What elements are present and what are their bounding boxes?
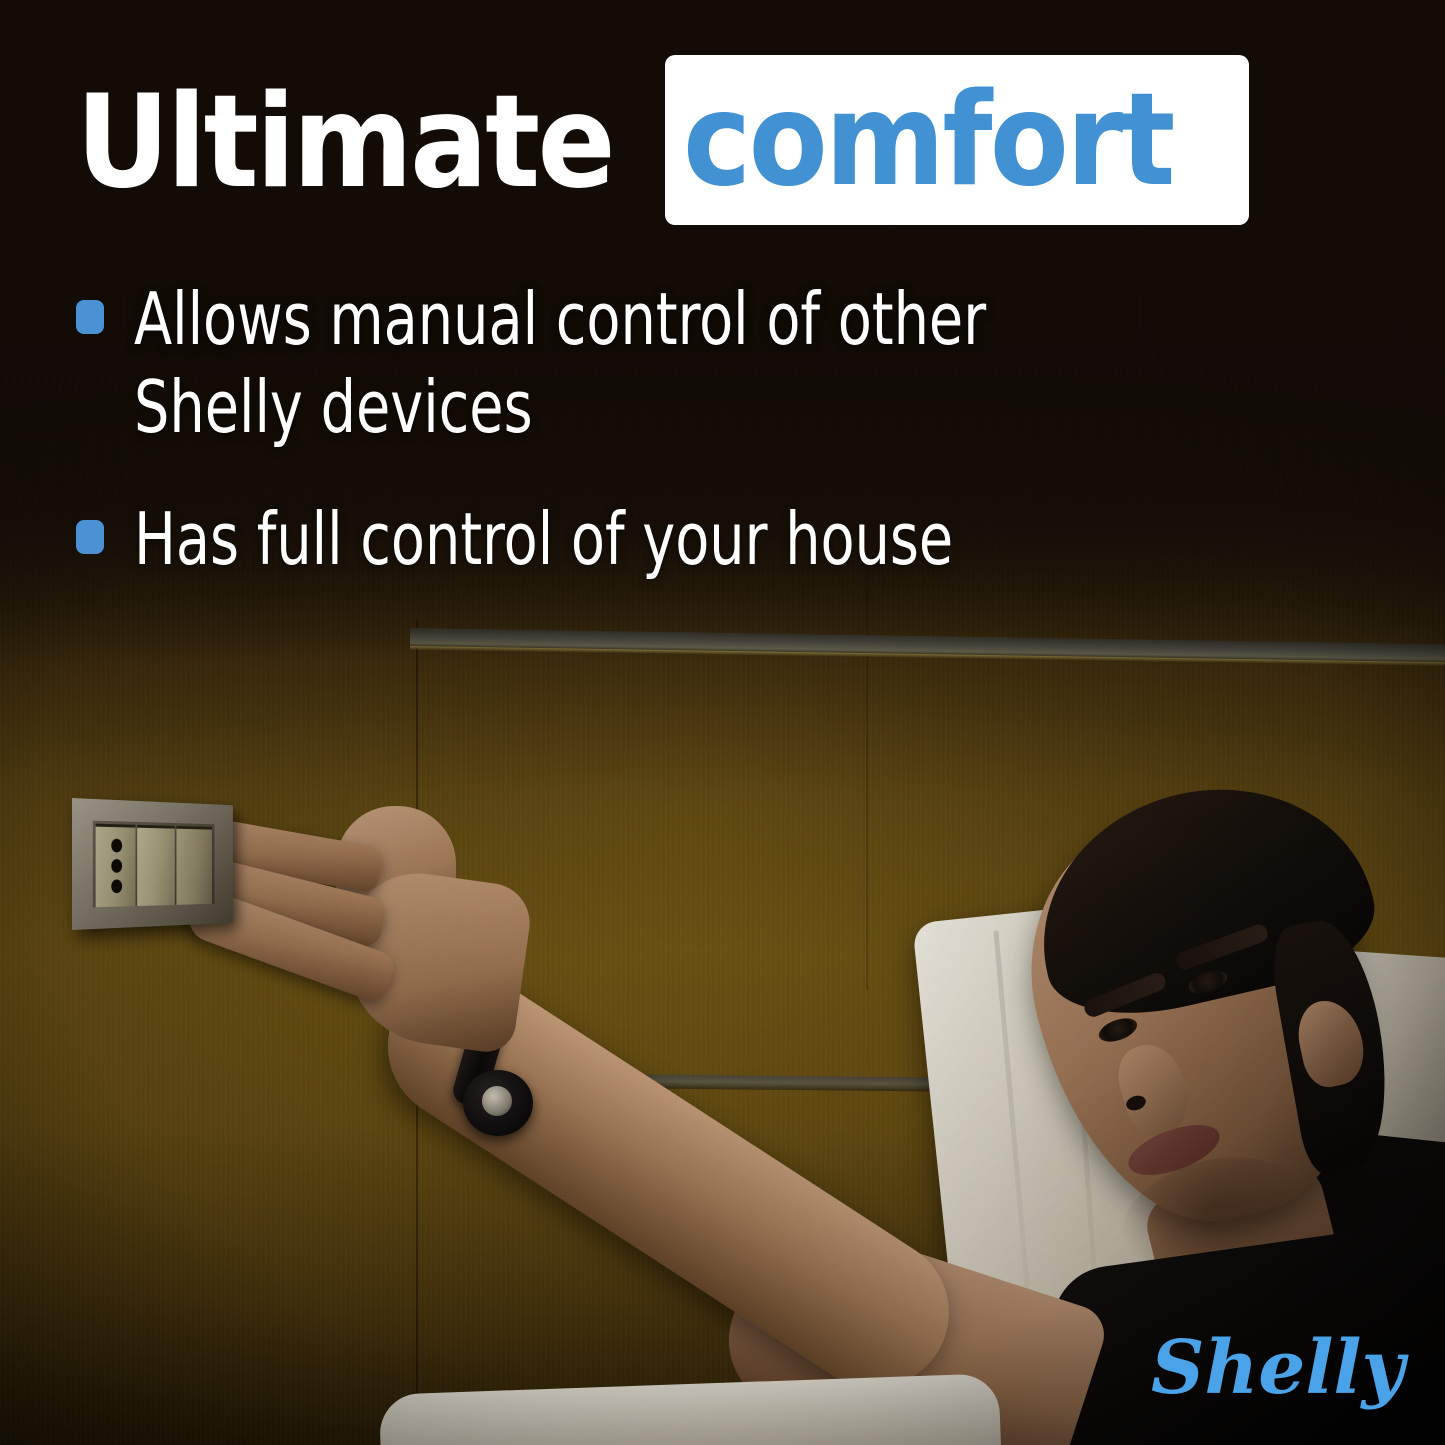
- headline-plain-word: Ultimate: [76, 55, 613, 207]
- shelly-logo-svg: Shelly: [1145, 1321, 1405, 1417]
- headline-highlight-chip: comfort: [665, 55, 1249, 225]
- feature-bullet-list: Allows manual control of other Shelly de…: [76, 276, 1226, 627]
- shelly-logo-text: Shelly: [1151, 1325, 1410, 1411]
- poster-content: Ultimate comfort Allows manual control o…: [0, 0, 1445, 1445]
- list-item: Has full control of your house: [76, 496, 1226, 584]
- bullet-text: Allows manual control of other Shelly de…: [134, 276, 986, 452]
- shelly-logo: Shelly: [1145, 1321, 1405, 1417]
- bullet-square-icon: [76, 300, 104, 334]
- list-item: Allows manual control of other Shelly de…: [76, 276, 1226, 452]
- bullet-square-icon: [76, 520, 104, 554]
- headline-highlighted-word: comfort: [683, 77, 1173, 205]
- headline: Ultimate comfort: [76, 55, 1249, 225]
- poster-root: Ultimate comfort Allows manual control o…: [0, 0, 1445, 1445]
- bullet-text: Has full control of your house: [134, 496, 953, 584]
